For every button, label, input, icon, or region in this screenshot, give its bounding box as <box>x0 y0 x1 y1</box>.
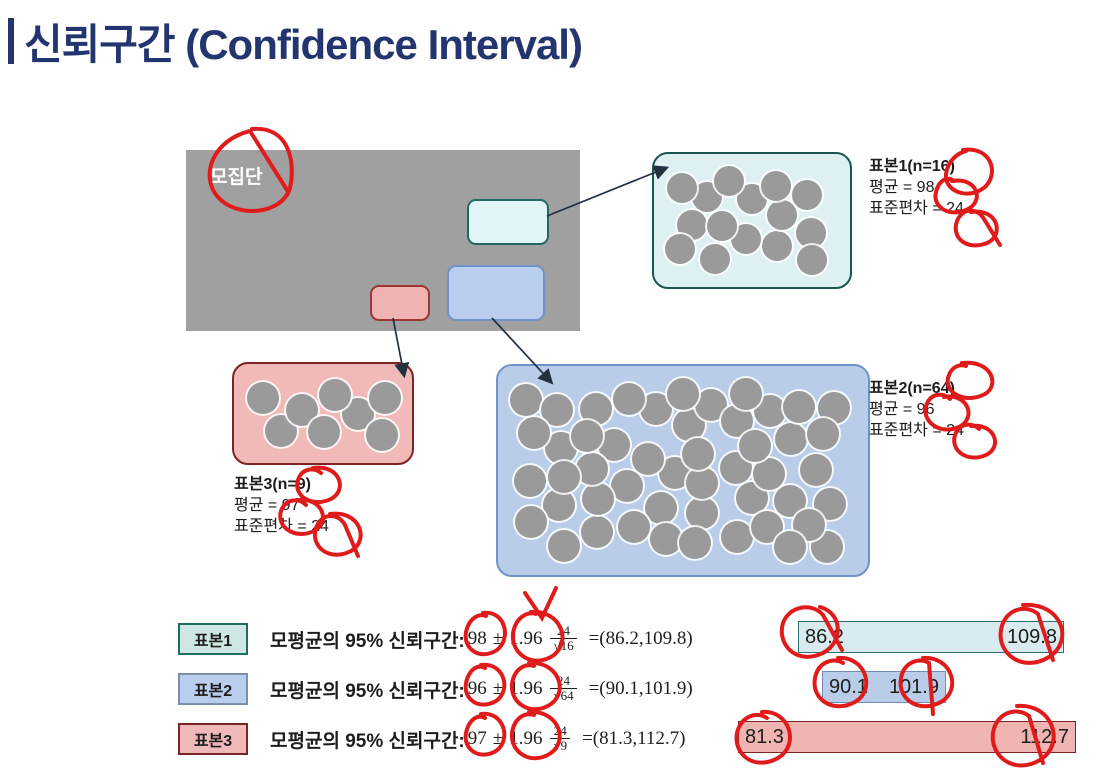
formula-result-3: =(81.3,112.7) <box>582 728 685 750</box>
legend-chip-sample3[interactable]: 표본3 <box>178 723 248 755</box>
formula-pm-3: ± <box>493 728 503 750</box>
sample-unit-dot <box>369 382 401 414</box>
formula-denominator-3: √9 <box>550 738 570 753</box>
sample-unit-dot <box>753 458 785 490</box>
sample-unit-dot <box>783 391 815 423</box>
sample-unit-dot <box>514 465 546 497</box>
sample-unit-dot <box>515 506 547 538</box>
sample3-mean: 평균 = 97 <box>234 495 329 516</box>
sample-unit-dot <box>797 245 827 275</box>
legend-chip-sample1[interactable]: 표본1 <box>178 623 248 655</box>
sample-unit-dot <box>682 438 714 470</box>
interval1-upper: 109.8 <box>1007 626 1057 649</box>
sample2-sd: 표준편차 = 24 <box>869 420 964 441</box>
sample-unit-dot <box>796 218 826 248</box>
sample-unit-dot <box>613 383 645 415</box>
formula-mean-3: 97 <box>468 728 487 750</box>
sample-unit-dot <box>761 171 791 201</box>
formula-mean-2: 96 <box>468 678 487 700</box>
interval-bar-sample1: 86.2 109.8 <box>798 621 1064 653</box>
sample1-mean: 평균 = 98 <box>869 177 964 198</box>
sample-unit-dot <box>247 382 279 414</box>
formula-fraction-1: 24 √16 <box>550 624 576 652</box>
sample3-caption: 표본3(n=9) 평균 = 97 표준편차 = 24 <box>234 474 329 537</box>
sample-unit-dot <box>510 384 542 416</box>
interval2-upper: 101.9 <box>889 676 939 699</box>
interval2-lower: 90.1 <box>829 676 868 699</box>
sample-unit-dot <box>686 467 718 499</box>
formula-z-1: 1.96 <box>509 628 542 650</box>
formula-result-1: =(86.2,109.8) <box>589 628 693 650</box>
formula-mean-1: 98 <box>468 628 487 650</box>
sample-unit-dot <box>582 483 614 515</box>
formula-result-2: =(90.1,101.9) <box>589 678 693 700</box>
formula-z-2: 1.96 <box>509 678 542 700</box>
sample2-heading: 표본2(n=64) <box>869 378 964 399</box>
sample-unit-dot <box>700 244 730 274</box>
sample3-sd: 표준편차 = 24 <box>234 516 329 537</box>
sample-unit-dot <box>775 423 807 455</box>
formula-row-sample1: 표본1 모평균의 95% 신뢰구간: 98 ± 1.96 24 √16 =(86… <box>178 620 693 658</box>
sample-unit-dot <box>721 521 753 553</box>
sample1-sd: 표준편차 = 24 <box>869 198 964 219</box>
interval-bar-sample3: 81.3 112.7 <box>738 721 1076 753</box>
formula-sample3: 모평균의 95% 신뢰구간: 97 ± 1.96 24 √9 =(81.3,11… <box>270 725 686 753</box>
interval3-lower: 81.3 <box>745 726 784 749</box>
sample-unit-dot <box>581 516 613 548</box>
sample2-caption: 표본2(n=64) 평균 = 96 표준편차 = 24 <box>869 378 964 441</box>
ink-check-mark <box>525 588 556 618</box>
legend-chip-sample2[interactable]: 표본2 <box>178 673 248 705</box>
sample-unit-dot <box>730 378 762 410</box>
sample-unit-dot <box>319 379 351 411</box>
sample-unit-dot <box>548 461 580 493</box>
sample-unit-dot <box>714 166 744 196</box>
sample-unit-dot <box>541 394 573 426</box>
formula-fraction-3: 24 √9 <box>550 724 570 752</box>
formula-numerator-2: 24 <box>554 674 573 688</box>
sample-unit-dot <box>576 453 608 485</box>
formula-row-sample2: 표본2 모평균의 95% 신뢰구간: 96 ± 1.96 24 √64 =(90… <box>178 670 693 708</box>
sample-unit-dot <box>667 378 699 410</box>
sample1-box <box>652 152 852 289</box>
formula-fraction-2: 24 √64 <box>550 674 576 702</box>
formula-pm-2: ± <box>493 678 503 700</box>
sample-unit-dot <box>548 530 580 562</box>
formula-label-2: 모평균의 95% 신뢰구간: <box>270 676 465 703</box>
sample-unit-dot <box>707 211 737 241</box>
sample3-heading: 표본3(n=9) <box>234 474 329 495</box>
population-subset-sample2 <box>447 265 545 321</box>
formula-sample1: 모평균의 95% 신뢰구간: 98 ± 1.96 24 √16 =(86.2,1… <box>270 625 693 653</box>
sample-unit-dot <box>645 492 677 524</box>
formula-z-3: 1.96 <box>509 728 542 750</box>
sample-unit-dot <box>774 531 806 563</box>
sample-unit-dot <box>686 497 718 529</box>
sample-unit-dot <box>571 420 603 452</box>
sample-unit-dot <box>792 180 822 210</box>
sample-unit-dot <box>543 489 575 521</box>
sample-unit-dot <box>665 234 695 264</box>
sample-unit-dot <box>767 200 797 230</box>
interval-bar-sample2: 90.1 101.9 <box>822 671 946 703</box>
population-subset-sample1 <box>467 199 549 245</box>
formula-numerator-1: 24 <box>554 624 573 638</box>
sample-unit-dot <box>762 231 792 261</box>
sample-unit-dot <box>800 454 832 486</box>
formula-numerator-3: 24 <box>551 724 570 738</box>
sample-unit-dot <box>632 443 664 475</box>
sample3-box <box>232 362 414 465</box>
title-bullet-icon <box>8 18 14 64</box>
sample-unit-dot <box>366 419 398 451</box>
sample-unit-dot <box>618 511 650 543</box>
sample-unit-dot <box>667 173 697 203</box>
sample-unit-dot <box>308 416 340 448</box>
formula-label-3: 모평균의 95% 신뢰구간: <box>270 726 465 753</box>
sample-unit-dot <box>807 418 839 450</box>
formula-row-sample3: 표본3 모평균의 95% 신뢰구간: 97 ± 1.96 24 √9 =(81.… <box>178 720 686 758</box>
title-text: 신뢰구간 (Confidence Interval) <box>24 11 582 72</box>
formula-denominator-1: √16 <box>550 638 576 653</box>
sample1-caption: 표본1(n=16) 평균 = 98 표준편차 = 24 <box>869 156 964 219</box>
population-label: 모집단 <box>210 162 262 189</box>
formula-label-1: 모평균의 95% 신뢰구간: <box>270 626 465 653</box>
sample2-mean: 평균 = 96 <box>869 399 964 420</box>
formula-pm-1: ± <box>493 628 503 650</box>
sample-unit-dot <box>611 470 643 502</box>
sample-unit-dot <box>518 417 550 449</box>
interval3-upper: 112.7 <box>1020 726 1069 749</box>
population-subset-sample3 <box>370 285 430 321</box>
slide-canvas: 신뢰구간 (Confidence Interval) 모집단 표본1(n=16)… <box>0 0 1097 782</box>
sample-unit-dot <box>650 523 682 555</box>
formula-sample2: 모평균의 95% 신뢰구간: 96 ± 1.96 24 √64 =(90.1,1… <box>270 675 693 703</box>
formula-denominator-2: √64 <box>550 688 576 703</box>
sample-unit-dot <box>679 527 711 559</box>
sample1-heading: 표본1(n=16) <box>869 156 964 177</box>
sample2-box <box>496 364 870 577</box>
interval1-lower: 86.2 <box>805 626 844 649</box>
page-title: 신뢰구간 (Confidence Interval) <box>8 8 908 74</box>
